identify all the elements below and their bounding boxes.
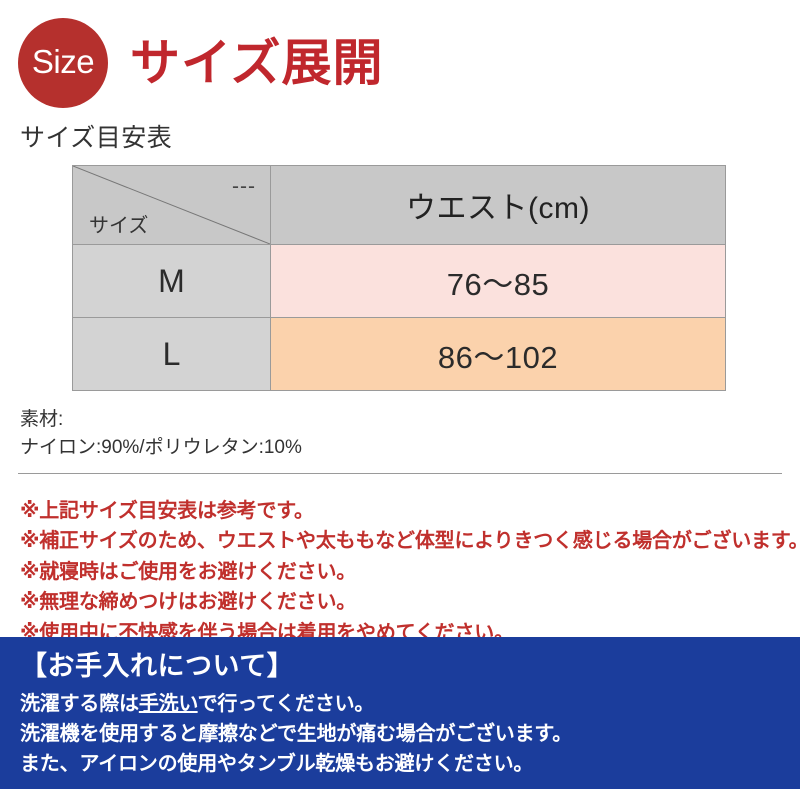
size-chart-page: Size サイズ展開 サイズ目安表 --- サイズ ウエスト(cm) — [0, 0, 800, 800]
size-badge-label: Size — [32, 45, 94, 81]
care-line-1-pre: 洗濯する際は — [20, 693, 139, 715]
page-title: サイズ展開 — [130, 38, 384, 88]
subtitle: サイズ目安表 — [20, 118, 172, 154]
table-cell-waist: 76〜85 — [271, 245, 726, 318]
care-line-1-underlined: 手洗い — [139, 693, 198, 715]
table-cell-size: M — [73, 245, 271, 318]
table-corner-dash: --- — [232, 176, 256, 197]
care-heading: 【お手入れについて】 — [20, 651, 780, 682]
care-line-2: 洗濯機を使用すると摩擦などで生地が痛む場合がございます。 — [20, 719, 780, 749]
care-lines: 洗濯する際は手洗いで行ってください。 洗濯機を使用すると摩擦などで生地が痛む場合… — [20, 689, 780, 779]
table-row: M 76〜85 — [73, 245, 726, 318]
note-item: ※上記サイズ目安表は参考です。 — [20, 496, 800, 526]
table-header-row: --- サイズ ウエスト(cm) — [73, 166, 726, 245]
material-section: 素材: ナイロン:90%/ポリウレタン:10% — [20, 406, 302, 461]
table-corner-cell: --- サイズ — [73, 166, 271, 245]
table-cell-size: L — [73, 318, 271, 391]
section-divider — [18, 473, 782, 474]
table-cell-waist: 86〜102 — [271, 318, 726, 391]
size-badge: Size — [18, 18, 108, 108]
care-line-1: 洗濯する際は手洗いで行ってください。 — [20, 689, 780, 719]
material-value: ナイロン:90%/ポリウレタン:10% — [20, 434, 302, 462]
table-corner-label: サイズ — [89, 216, 148, 236]
care-line-3: また、アイロンの使用やタンブル乾燥もお避けください。 — [20, 749, 780, 779]
page-header: Size サイズ展開 — [18, 17, 384, 109]
table-row: L 86〜102 — [73, 318, 726, 391]
note-item: ※就寝時はご使用をお避けください。 — [20, 557, 800, 587]
table-column-header-waist: ウエスト(cm) — [271, 166, 726, 245]
notes-list: ※上記サイズ目安表は参考です。 ※補正サイズのため、ウエストや太ももなど体型によ… — [20, 496, 800, 648]
note-item: ※無理な締めつけはお避けください。 — [20, 587, 800, 617]
care-instructions-section: 【お手入れについて】 洗濯する際は手洗いで行ってください。 洗濯機を使用すると摩… — [0, 637, 800, 789]
material-label: 素材: — [20, 406, 302, 434]
care-line-1-post: で行ってください。 — [198, 693, 375, 715]
size-guide-table: --- サイズ ウエスト(cm) M 76〜85 L 86〜102 — [72, 165, 726, 391]
note-item: ※補正サイズのため、ウエストや太ももなど体型によりきつく感じる場合がございます。 — [20, 526, 800, 556]
